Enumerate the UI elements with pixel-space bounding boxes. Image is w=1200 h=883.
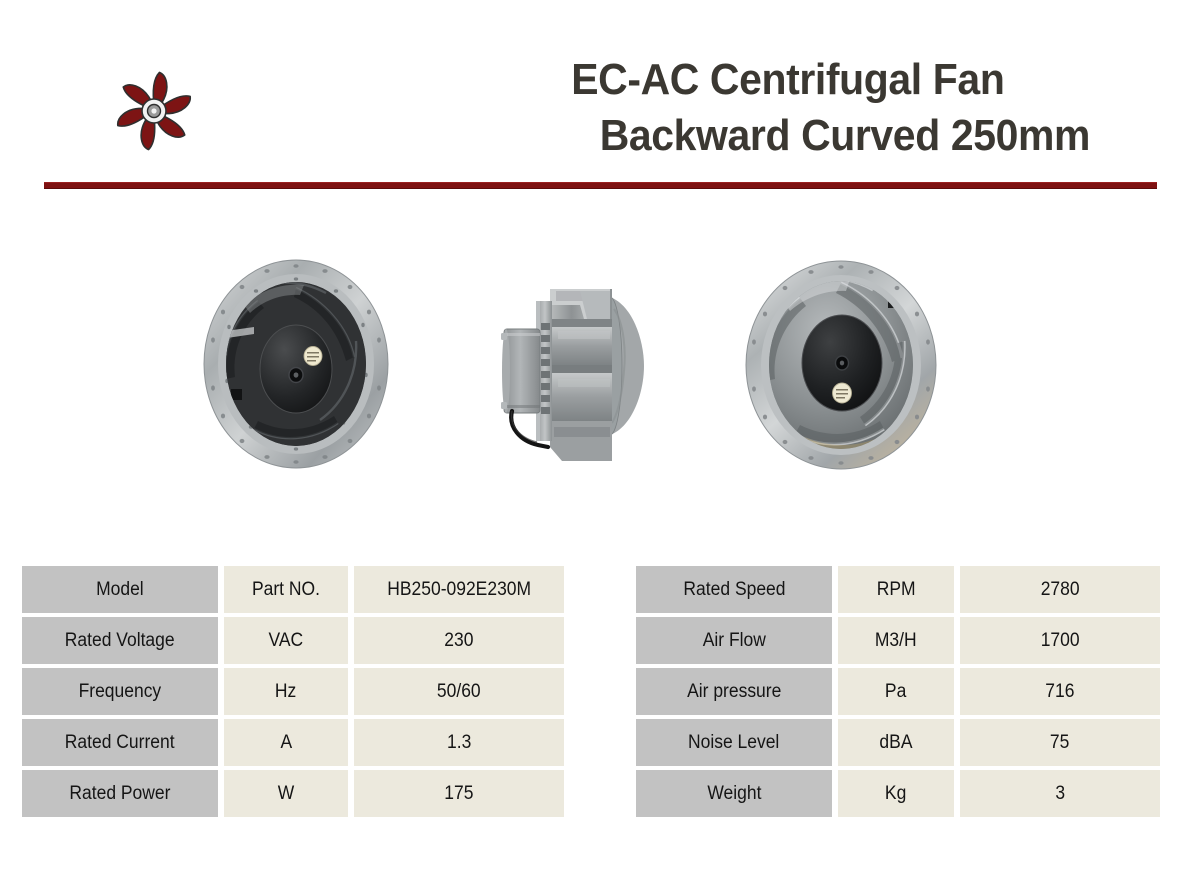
table-row: Rated Current A 1.3 [22,719,578,766]
page-header: EC-AC Centrifugal Fan Backward Curved 25… [0,0,1200,200]
spec-value: 3 [960,770,1160,817]
spec-label: Rated Power [22,770,218,817]
page-title: EC-AC Centrifugal Fan Backward Curved 25… [200,52,1090,164]
spec-unit: M3/H [838,617,954,664]
spec-label: Air pressure [636,668,832,715]
spec-unit: VAC [224,617,348,664]
table-row: Weight Kg 3 [636,770,1176,817]
specifications-section: Model Part NO. HB250-092E230M Rated Volt… [0,566,1200,821]
spec-table-performance: Rated Speed RPM 2780 Air Flow M3/H 1700 … [636,566,1176,817]
product-image-gallery [0,255,1200,500]
table-row: Model Part NO. HB250-092E230M [22,566,578,613]
spec-unit: W [224,770,348,817]
spec-table-electrical: Model Part NO. HB250-092E230M Rated Volt… [22,566,578,817]
fan-side-view [492,261,652,471]
spec-value: 2780 [960,566,1160,613]
title-line-2: Backward Curved 250mm [262,108,1090,164]
spec-unit: Hz [224,668,348,715]
spec-label: Noise Level [636,719,832,766]
fan-propeller-logo-icon [98,58,210,170]
spec-value: 175 [354,770,564,817]
table-row: Noise Level dBA 75 [636,719,1176,766]
header-divider-rule [44,182,1157,189]
spec-value: 75 [960,719,1160,766]
title-line-1: EC-AC Centrifugal Fan [262,52,1090,108]
spec-unit: Part NO. [224,566,348,613]
spec-unit: RPM [838,566,954,613]
spec-label: Air Flow [636,617,832,664]
spec-value: HB250-092E230M [354,566,564,613]
table-row: Rated Speed RPM 2780 [636,566,1176,613]
spec-value: 230 [354,617,564,664]
fan-front-view-lit [738,259,944,471]
spec-value: 1700 [960,617,1160,664]
spec-unit: Kg [838,770,954,817]
spec-unit: Pa [838,668,954,715]
spec-label: Rated Speed [636,566,832,613]
spec-value: 716 [960,668,1160,715]
table-row: Air pressure Pa 716 [636,668,1176,715]
fan-front-view [196,257,396,471]
table-row: Rated Power W 175 [22,770,578,817]
spec-unit: A [224,719,348,766]
spec-label: Frequency [22,668,218,715]
table-row: Frequency Hz 50/60 [22,668,578,715]
table-row: Rated Voltage VAC 230 [22,617,578,664]
spec-label: Weight [636,770,832,817]
spec-unit: dBA [838,719,954,766]
table-row: Air Flow M3/H 1700 [636,617,1176,664]
spec-label: Rated Current [22,719,218,766]
spec-label: Model [22,566,218,613]
product-datasheet-page: EC-AC Centrifugal Fan Backward Curved 25… [0,0,1200,883]
spec-value: 50/60 [354,668,564,715]
spec-label: Rated Voltage [22,617,218,664]
spec-value: 1.3 [354,719,564,766]
